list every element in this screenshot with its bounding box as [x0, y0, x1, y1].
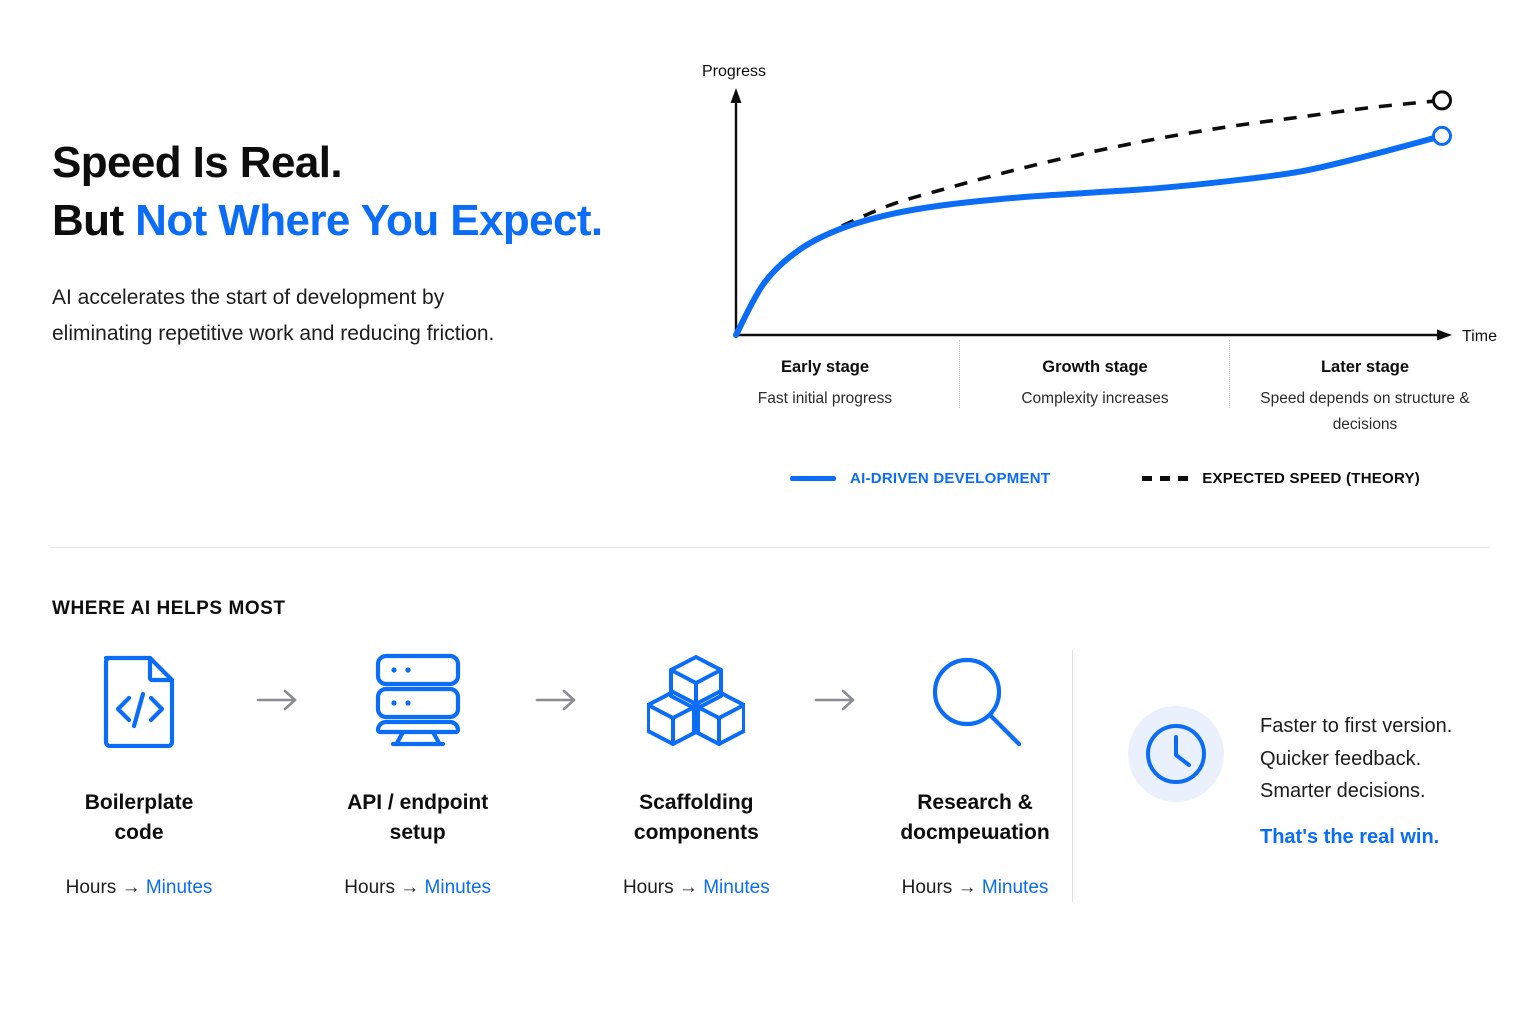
summary-block: Faster to first version. Quicker feedbac…	[1128, 706, 1452, 849]
y-axis-arrowhead	[731, 88, 742, 103]
metric-arrow-icon: →	[679, 877, 698, 898]
pipeline-card-label-line-2: code	[114, 821, 163, 844]
series-expected-speed-endpoint	[1434, 92, 1451, 109]
x-axis-label: Time	[1462, 328, 1497, 345]
pipeline-card-boilerplate[interactable]: Boilerplate code Hours → Minutes	[52, 648, 226, 899]
pipeline-card-label-line-2: setup	[390, 821, 446, 844]
stage-growth: Growth stage Complexity increases	[960, 357, 1230, 437]
progress-chart: Progress Time Early stage Fast initial p…	[690, 52, 1500, 512]
pipeline-card-label-line-1: API / endpoint	[347, 791, 488, 814]
hero-subcopy-line-2: eliminating repetitive work and reducing…	[52, 322, 494, 345]
legend-item-expected-speed: EXPECTED SPEED (THEORY)	[1142, 470, 1420, 487]
hero-subcopy-line-1: AI accelerates the start of development …	[52, 286, 444, 309]
pipeline-arrow-icon	[505, 648, 610, 752]
pipeline-card-metric: Hours → Minutes	[888, 877, 1062, 899]
pipeline-arrow-icon	[226, 648, 331, 752]
clock-icon	[1128, 706, 1224, 802]
pipeline-card-label: Boilerplate code	[52, 788, 226, 849]
stage-growth-desc: Complexity increases	[966, 386, 1224, 411]
pipeline-card-label-line-1: Scaffolding	[639, 791, 753, 814]
metric-from: Hours	[623, 877, 674, 898]
summary-line-1: Faster to first version.	[1260, 710, 1452, 743]
metric-to: Minutes	[982, 877, 1049, 898]
stage-later-title: Later stage	[1236, 357, 1494, 378]
summary-line-2: Quicker feedback.	[1260, 743, 1452, 776]
stage-early: Early stage Fast initial progress	[690, 357, 960, 437]
where-ai-helps-title: WHERE AI HELPS MOST	[52, 598, 286, 620]
legend-solid-line-swatch	[790, 476, 836, 481]
pipeline-card-label-line-1: Boilerplate	[85, 791, 194, 814]
legend-dashed-line-swatch	[1142, 476, 1188, 481]
stage-later: Later stage Speed depends on structure &…	[1230, 357, 1500, 437]
pipeline-card-label: API / endpoint setup	[331, 788, 505, 849]
page-title: Speed Is Real. But Not Where You Expect.	[52, 134, 672, 250]
headline-line-2-plain: But	[52, 196, 135, 245]
hero-subcopy: AI accelerates the start of development …	[52, 280, 672, 352]
pipeline-card-label: Research & docmpeɯation	[888, 788, 1062, 849]
code-file-icon	[52, 648, 226, 752]
metric-arrow-icon: →	[400, 877, 419, 898]
pipeline-card-label-line-2: components	[634, 821, 759, 844]
pipeline-card-scaffolding[interactable]: Scaffolding components Hours → Minutes	[609, 648, 783, 899]
metric-from: Hours	[66, 877, 117, 898]
pipeline-card-metric: Hours → Minutes	[609, 877, 783, 899]
pipeline-card-label: Scaffolding components	[609, 788, 783, 849]
summary-vertical-divider	[1072, 650, 1073, 902]
pipeline-card-label-line-2: docmpeɯation	[900, 821, 1049, 844]
cubes-icon	[609, 648, 783, 752]
metric-to: Minutes	[146, 877, 213, 898]
x-axis-arrowhead	[1437, 330, 1452, 341]
headline-line-1: Speed Is Real.	[52, 138, 342, 187]
summary-text: Faster to first version. Quicker feedbac…	[1260, 706, 1452, 849]
stage-later-desc: Speed depends on structure & decisions	[1236, 386, 1494, 436]
chart-stage-labels: Early stage Fast initial progress Growth…	[690, 357, 1500, 437]
hero-block: Speed Is Real. But Not Where You Expect.…	[52, 134, 672, 352]
series-ai-driven-development-endpoint	[1434, 127, 1451, 144]
pipeline-card-research[interactable]: Research & docmpeɯation Hours → Minutes	[888, 648, 1062, 899]
metric-from: Hours	[902, 877, 953, 898]
y-axis-label: Progress	[702, 63, 766, 80]
magnifier-icon	[888, 648, 1062, 752]
metric-to: Minutes	[425, 877, 492, 898]
summary-line-3: Smarter decisions.	[1260, 775, 1452, 808]
section-divider	[50, 547, 1490, 548]
stage-early-desc: Fast initial progress	[696, 386, 954, 411]
server-rack-icon	[331, 648, 505, 752]
series-ai-driven-development	[736, 136, 1442, 335]
pipeline-arrow-icon	[783, 648, 888, 752]
legend-label-ai-driven: AI-DRIVEN DEVELOPMENT	[850, 470, 1050, 487]
legend-label-expected-speed: EXPECTED SPEED (THEORY)	[1202, 470, 1420, 487]
pipeline-card-label-line-1: Research &	[917, 791, 1033, 814]
chart-canvas: Progress Time	[690, 52, 1500, 352]
pipeline-card-metric: Hours → Minutes	[52, 877, 226, 899]
legend-item-ai-driven: AI-DRIVEN DEVELOPMENT	[790, 470, 1050, 487]
ai-help-pipeline: Boilerplate code Hours → Minutes	[52, 648, 1062, 899]
stage-early-title: Early stage	[696, 357, 954, 378]
summary-kicker: That's the real win.	[1260, 826, 1452, 849]
chart-legend: AI-DRIVEN DEVELOPMENT EXPECTED SPEED (TH…	[710, 470, 1500, 487]
pipeline-card-api-endpoint[interactable]: API / endpoint setup Hours → Minutes	[331, 648, 505, 899]
stage-growth-title: Growth stage	[966, 357, 1224, 378]
pipeline-card-metric: Hours → Minutes	[331, 877, 505, 899]
headline-line-2-accent: Not Where You Expect.	[135, 196, 602, 245]
metric-to: Minutes	[703, 877, 770, 898]
metric-from: Hours	[344, 877, 395, 898]
metric-arrow-icon: →	[958, 877, 977, 898]
metric-arrow-icon: →	[122, 877, 141, 898]
